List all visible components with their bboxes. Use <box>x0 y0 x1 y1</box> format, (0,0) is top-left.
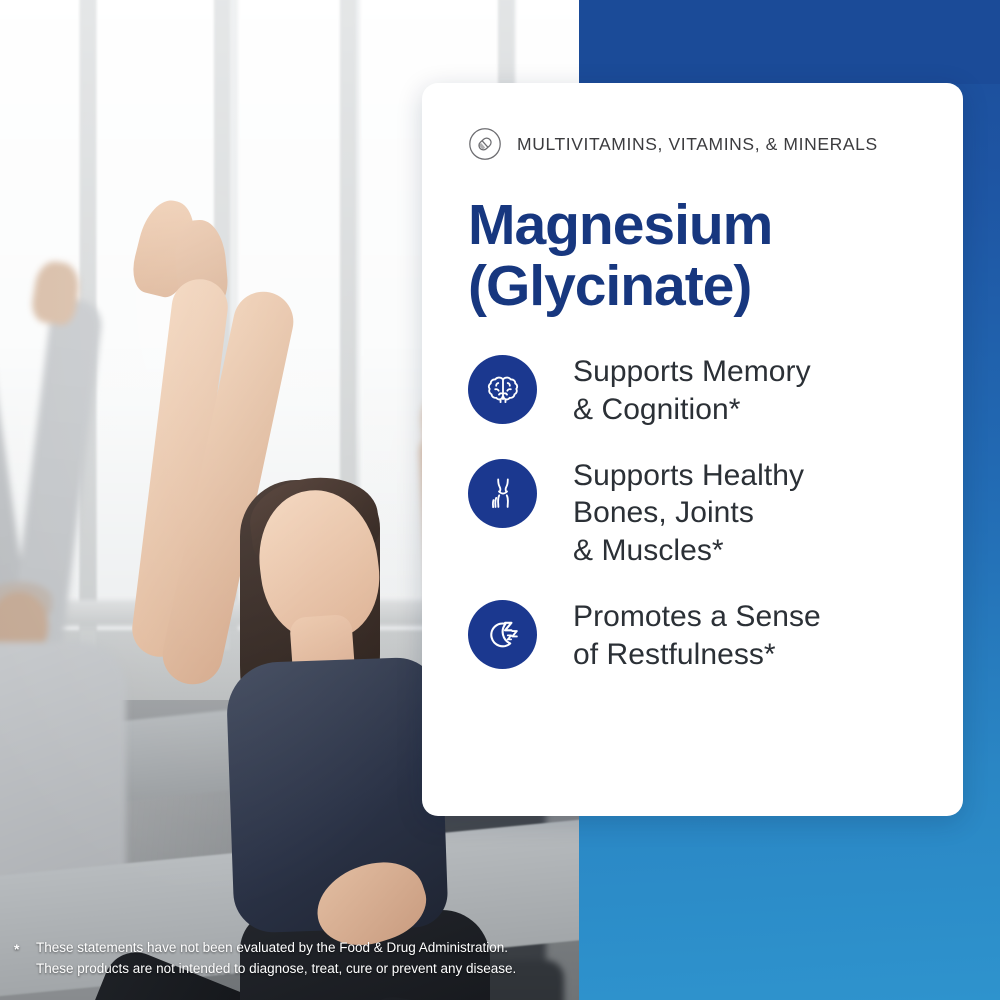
benefit-item-memory: Supports Memory & Cognition* <box>468 351 929 429</box>
benefit-item-restfulness: Promotes a Sense of Restfulness* <box>468 596 929 674</box>
disclaimer-line-2: These products are not intended to diagn… <box>14 959 574 980</box>
category-row: MULTIVITAMINS, VITAMINS, & MINERALS <box>468 127 929 161</box>
title-line-1: Magnesium <box>468 195 929 256</box>
benefit-line: Promotes a Sense <box>573 598 821 636</box>
product-info-card: MULTIVITAMINS, VITAMINS, & MINERALS Magn… <box>422 83 963 816</box>
benefit-text-bones: Supports Healthy Bones, Joints & Muscles… <box>573 455 804 570</box>
category-label: MULTIVITAMINS, VITAMINS, & MINERALS <box>517 134 878 155</box>
disclaimer-asterisk: * <box>14 939 19 960</box>
benefit-line: & Muscles* <box>573 532 804 570</box>
benefit-item-bones: Supports Healthy Bones, Joints & Muscles… <box>468 455 929 570</box>
benefit-text-restfulness: Promotes a Sense of Restfulness* <box>573 596 821 674</box>
benefits-list: Supports Memory & Cognition* <box>468 351 929 674</box>
title-line-2: (Glycinate) <box>468 256 929 317</box>
benefit-line: & Cognition* <box>573 391 811 429</box>
capsule-pill-icon <box>468 127 502 161</box>
page-title: Magnesium (Glycinate) <box>468 195 929 317</box>
benefit-line: Bones, Joints <box>573 494 804 532</box>
bone-joint-icon <box>468 459 537 528</box>
benefit-line: Supports Healthy <box>573 457 804 495</box>
top-blue-bar <box>579 0 1000 84</box>
benefit-text-memory: Supports Memory & Cognition* <box>573 351 811 429</box>
disclaimer-line-1: These statements have not been evaluated… <box>14 938 574 959</box>
fda-disclaimer: * These statements have not been evaluat… <box>14 938 574 979</box>
benefit-line: Supports Memory <box>573 353 811 391</box>
benefit-line: of Restfulness* <box>573 636 821 674</box>
ad-creative: MULTIVITAMINS, VITAMINS, & MINERALS Magn… <box>0 0 1000 1000</box>
brain-icon <box>468 355 537 424</box>
moon-sleep-icon <box>468 600 537 669</box>
